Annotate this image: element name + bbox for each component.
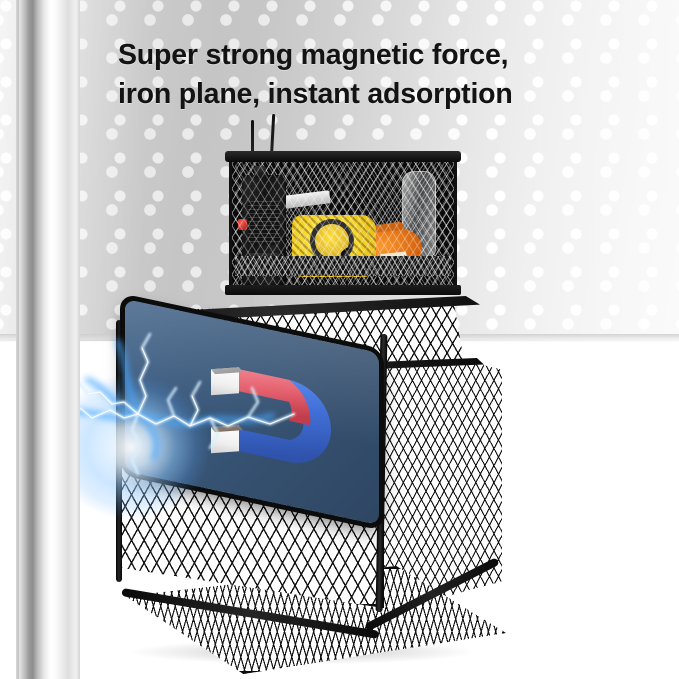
basket-left-corner-post	[116, 320, 122, 582]
pole-right-edge	[76, 0, 80, 679]
product-feature-image: Super strong magnetic force, iron plane,…	[0, 0, 679, 679]
main-magnetic-basket	[100, 288, 520, 658]
upper-basket-floor-mesh	[235, 256, 451, 276]
magnet-south-tip	[211, 419, 243, 460]
walkie-talkie-speaker-grille	[248, 201, 280, 245]
walkie-talkie-led	[238, 219, 247, 230]
upper-storage-basket	[229, 154, 457, 291]
headline-text: Super strong magnetic force, iron plane,…	[118, 36, 638, 114]
upper-basket-mesh-body	[229, 154, 457, 291]
pole-left-edge	[16, 0, 19, 679]
metallic-pole	[16, 0, 80, 679]
tape-measure-blade	[283, 190, 330, 209]
upper-basket-top-rim	[225, 151, 461, 162]
walkie-talkie-knob	[254, 166, 266, 178]
magnet-north-tip	[211, 361, 243, 402]
